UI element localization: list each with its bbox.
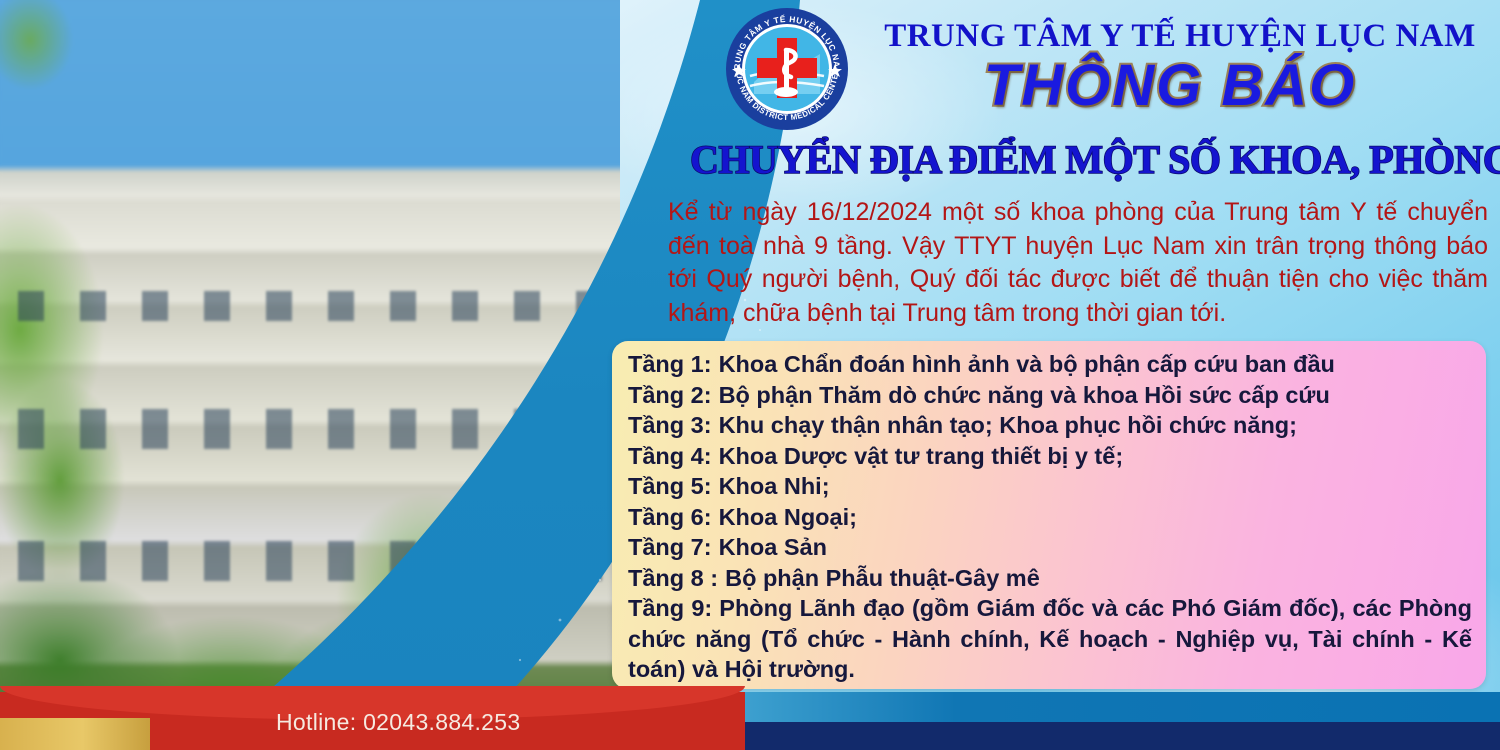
floor-row: Tầng 1:Khoa Chẩn đoán hình ảnh và bộ phậ… [628, 349, 1472, 380]
announcement-heading: THÔNG BÁO [840, 52, 1500, 119]
floor-row: Tầng 7:Khoa Sản [628, 532, 1472, 563]
floor-departments: Bộ phận Phẫu thuật-Gây mê [725, 565, 1040, 591]
floor-label: Tầng 5: [628, 473, 712, 499]
footer-bar-navy [745, 722, 1500, 750]
floor-label: Tầng 9: [628, 595, 712, 621]
organization-logo: TRUNG TÂM Y TẾ HUYỆN LỤC NAM LỤC NAM DIS… [724, 6, 850, 132]
floor-label: Tầng 7: [628, 534, 712, 560]
footer-bar-blue [745, 692, 1500, 722]
floor-label: Tầng 8 : [628, 565, 718, 591]
floor-row: Tầng 4:Khoa Dược vật tư trang thiết bị y… [628, 441, 1472, 472]
floor-departments: Khoa Ngoại; [719, 504, 857, 530]
floor-departments: Bộ phận Thăm dò chức năng và khoa Hồi sứ… [719, 382, 1330, 408]
floor-label: Tầng 3: [628, 412, 712, 438]
floor-departments: Khu chạy thận nhân tạo; Khoa phục hồi ch… [719, 412, 1297, 438]
gold-corner-accent [0, 718, 150, 750]
floor-row: Tầng 6:Khoa Ngoại; [628, 502, 1472, 533]
floor-label: Tầng 4: [628, 443, 712, 469]
floor-label: Tầng 1: [628, 351, 712, 377]
floor-row: Tầng 3:Khu chạy thận nhân tạo; Khoa phục… [628, 410, 1472, 441]
announcement-banner: TRUNG TÂM Y TẾ HUYỆN LỤC NAM LỤC NAM DIS… [0, 0, 1500, 750]
floor-row: Tầng 5:Khoa Nhi; [628, 471, 1472, 502]
floor-label: Tầng 6: [628, 504, 712, 530]
floor-departments: Khoa Chẩn đoán hình ảnh và bộ phận cấp c… [719, 351, 1335, 377]
intro-paragraph: Kể từ ngày 16/12/2024 một số khoa phòng … [668, 196, 1488, 330]
floor-departments: Khoa Sản [719, 534, 827, 560]
floor-list-panel: Tầng 1:Khoa Chẩn đoán hình ảnh và bộ phậ… [612, 341, 1486, 689]
floor-row: Tầng 2:Bộ phận Thăm dò chức năng và khoa… [628, 380, 1472, 411]
floor-row: Tầng 8 :Bộ phận Phẫu thuật-Gây mê [628, 563, 1472, 594]
floor-label: Tầng 2: [628, 382, 712, 408]
floor-departments: Khoa Nhi; [719, 473, 830, 499]
floor-row: Tầng 9:Phòng Lãnh đạo (gồm Giám đốc và c… [628, 593, 1472, 685]
subject-heading: CHUYỂN ĐỊA ĐIỂM MỘT SỐ KHOA, PHÒNG [690, 136, 1500, 183]
floor-departments: Khoa Dược vật tư trang thiết bị y tế; [719, 443, 1124, 469]
floor-departments: Phòng Lãnh đạo (gồm Giám đốc và các Phó … [628, 595, 1472, 682]
hotline-text: Hotline: 02043.884.253 [276, 709, 520, 736]
page-title: TRUNG TÂM Y TẾ HUYỆN LỤC NAM [860, 18, 1500, 55]
